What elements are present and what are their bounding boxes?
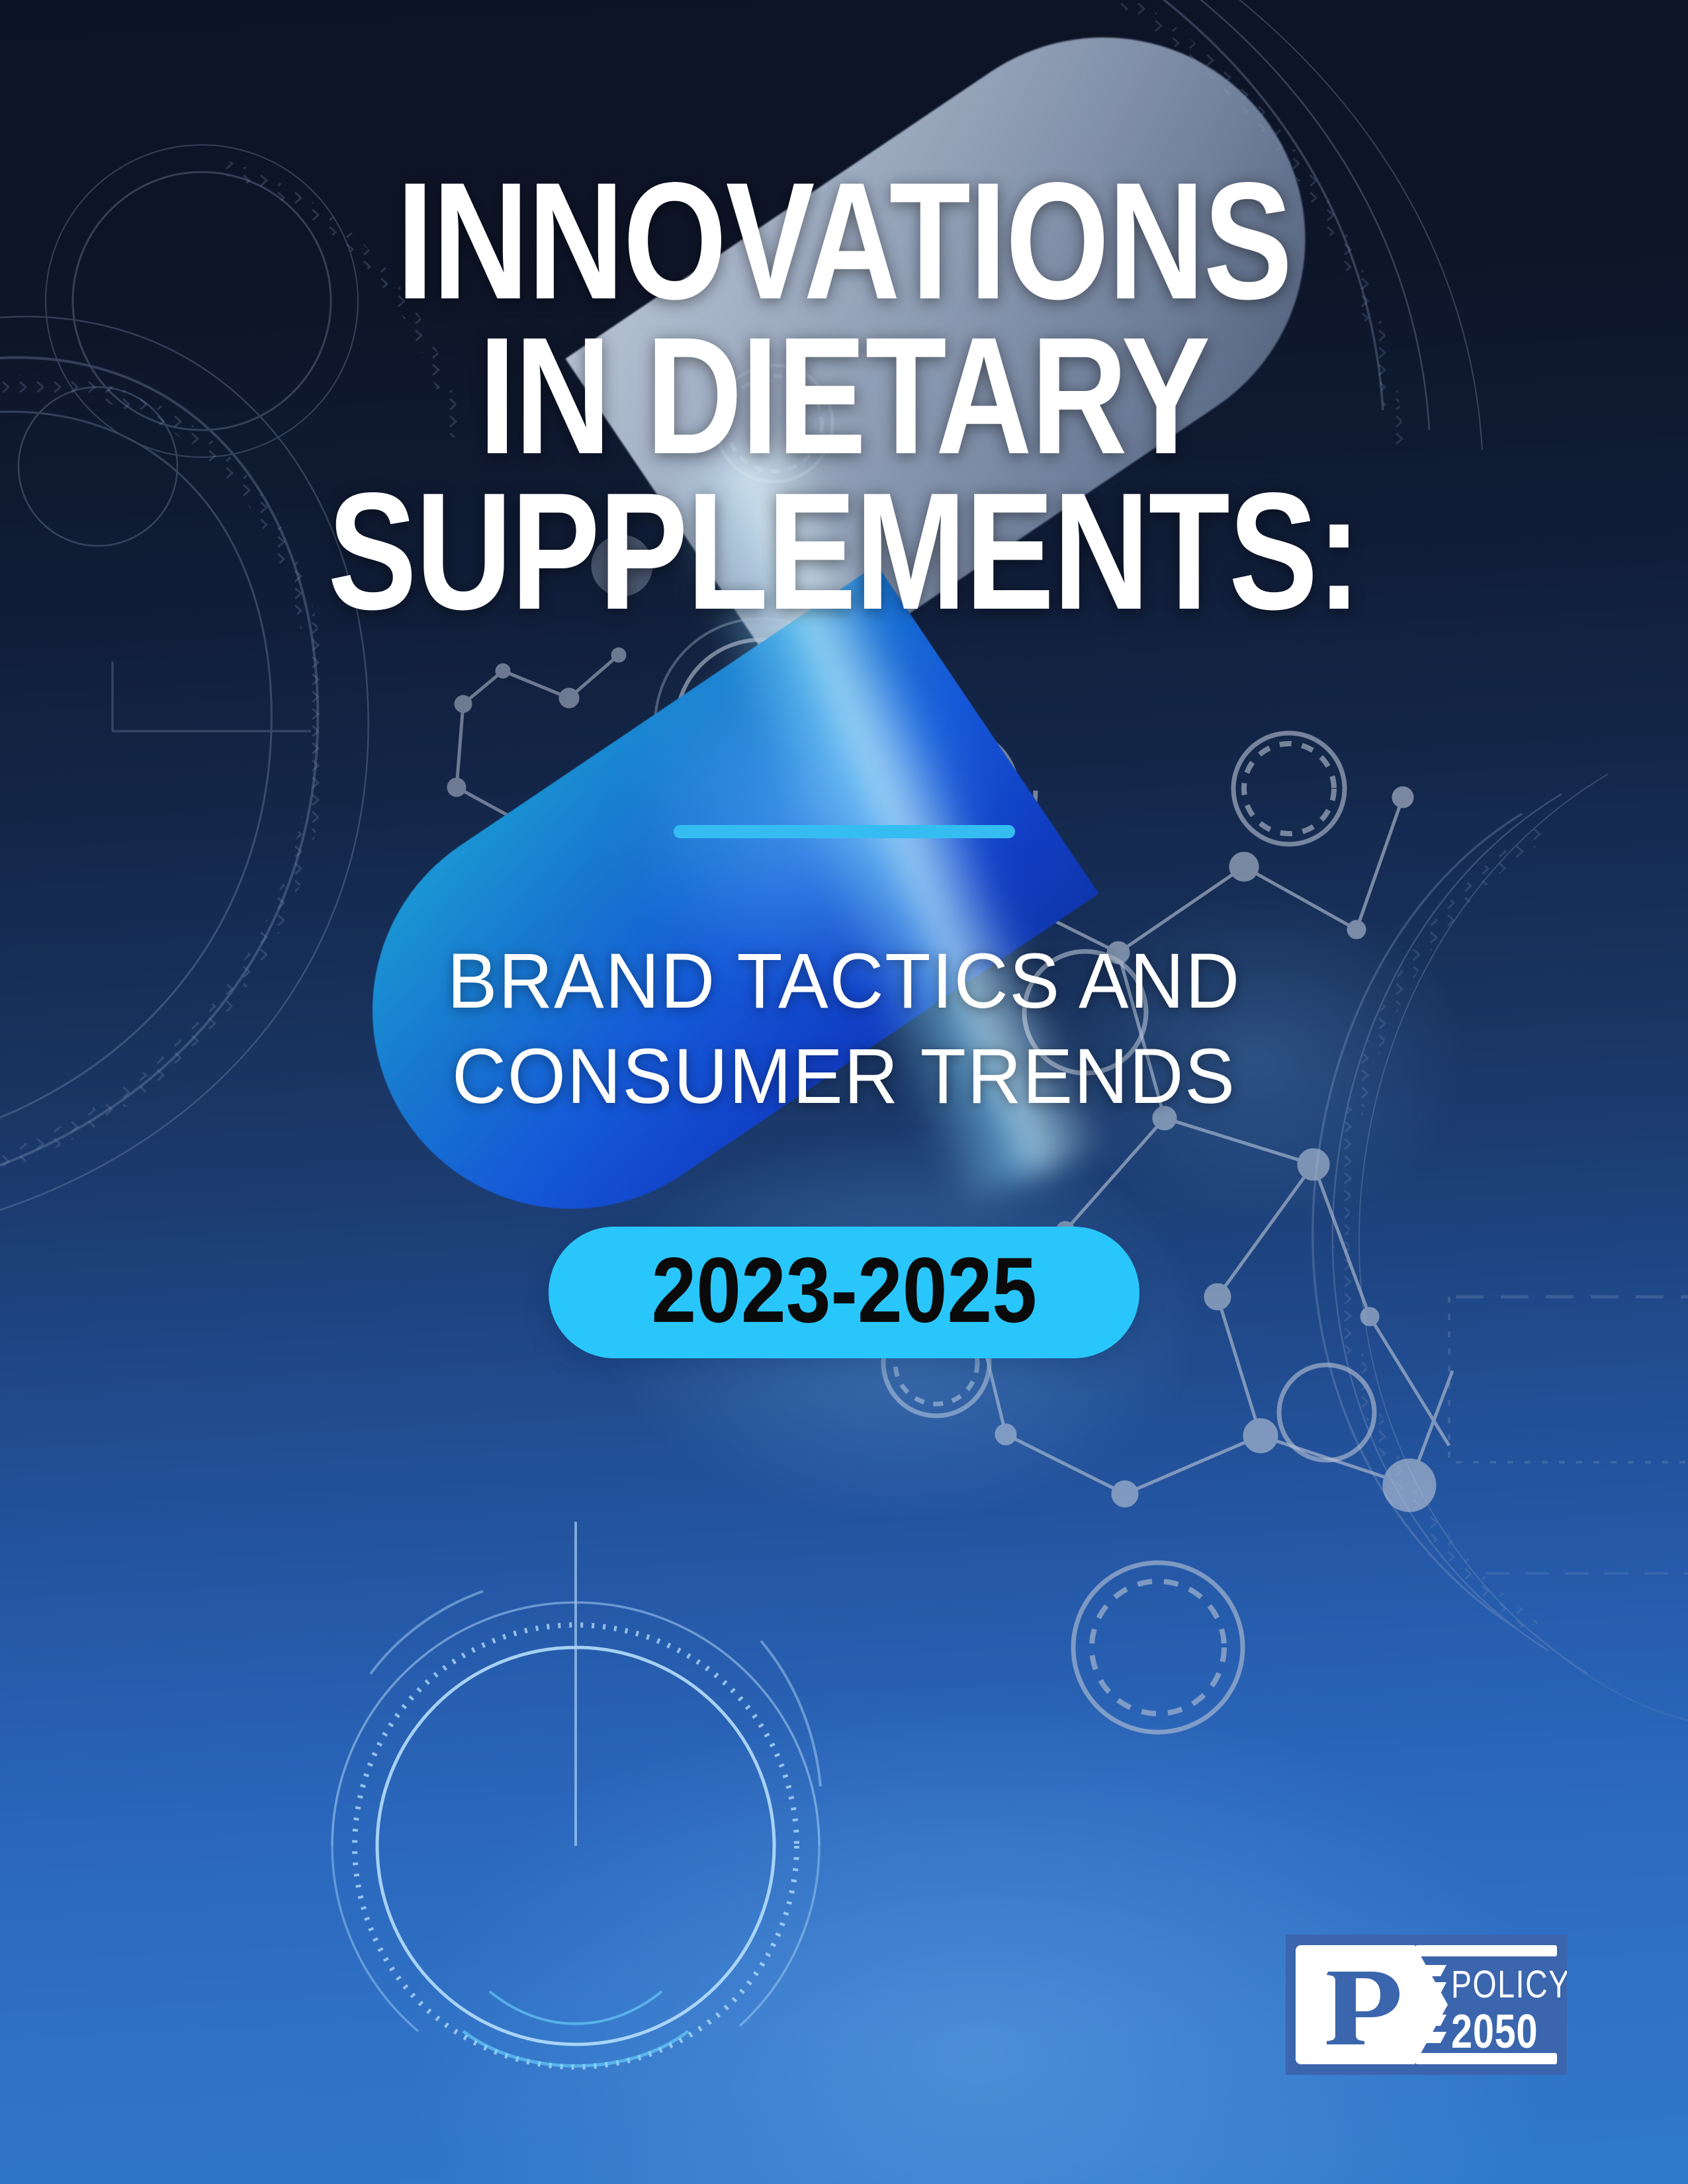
- title-line-3: SUPPLEMENTS:: [169, 474, 1519, 629]
- policy-2050-logo-icon: POLICY 2050: [1286, 1935, 1567, 2075]
- date-range-badge: 2023-2025: [0, 1227, 1688, 1358]
- divider-bar: [674, 825, 1015, 838]
- title-line-2: IN DIETARY: [169, 319, 1519, 474]
- subtitle-line-1: BRAND TACTICS AND: [34, 934, 1654, 1029]
- title-divider: [0, 825, 1688, 838]
- logo-2050-text: 2050: [1451, 2005, 1538, 2058]
- page-title: INNOVATIONS IN DIETARY SUPPLEMENTS:: [0, 164, 1688, 629]
- status-badge: 2023-2025: [549, 1227, 1140, 1358]
- cover-content: INNOVATIONS IN DIETARY SUPPLEMENTS: BRAN…: [0, 0, 1688, 2184]
- badge-label: 2023-2025: [651, 1241, 1036, 1338]
- page-subtitle: BRAND TACTICS AND CONSUMER TRENDS: [0, 934, 1688, 1125]
- publisher-logo: POLICY 2050: [1286, 1935, 1567, 2075]
- logo-policy-text: POLICY: [1451, 1963, 1567, 2006]
- report-cover: INNOVATIONS IN DIETARY SUPPLEMENTS: BRAN…: [0, 0, 1688, 2184]
- title-line-1: INNOVATIONS: [169, 164, 1519, 319]
- subtitle-line-2: CONSUMER TRENDS: [34, 1029, 1654, 1125]
